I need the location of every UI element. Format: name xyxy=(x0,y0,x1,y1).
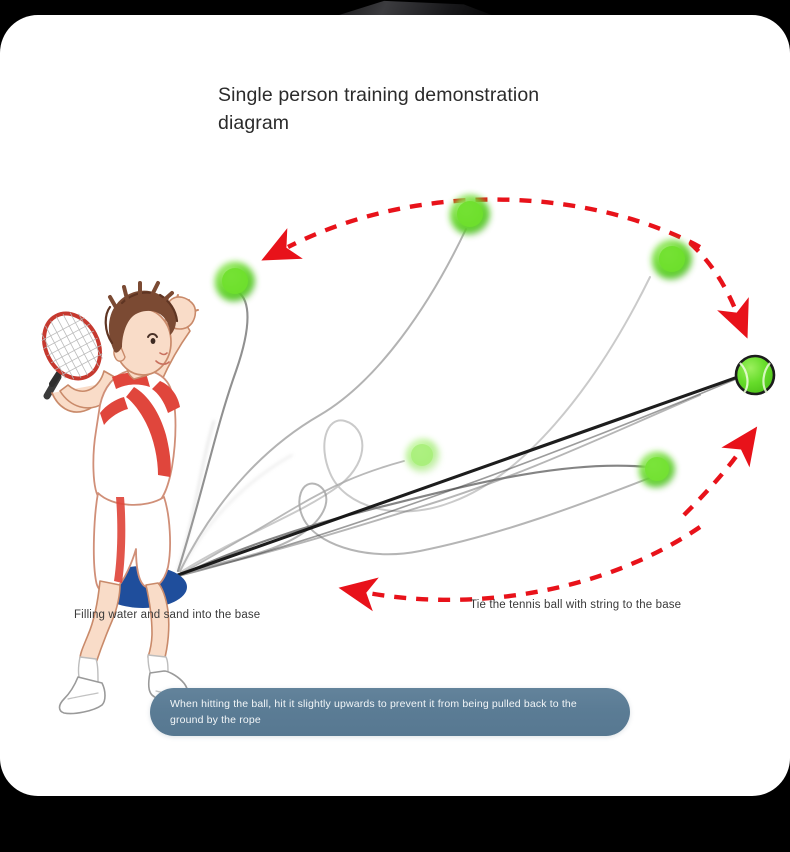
tennis-balls xyxy=(215,195,774,488)
ball-top-center xyxy=(450,195,490,235)
screenshot-stage: Single person training demonstration dia… xyxy=(0,0,790,852)
rope-strings xyxy=(178,229,738,576)
ball-right-solid xyxy=(736,356,774,394)
ball-top-right xyxy=(652,240,692,280)
arrow-right-down-path xyxy=(690,243,736,311)
arrow-left-bottom-path xyxy=(368,527,700,600)
caption-base-fill: Filling water and sand into the base xyxy=(74,609,260,621)
arrow-top-left-path xyxy=(288,200,700,247)
tip-banner: When hitting the ball, hit it slightly u… xyxy=(150,688,630,736)
arrow-right-up-path xyxy=(684,451,740,515)
ball-lower-right xyxy=(639,452,675,488)
training-diagram: Single person training demonstration dia… xyxy=(0,15,790,796)
ball-mid-faded xyxy=(406,439,440,473)
caption-tie-ball: Tie the tennis ball with string to the b… xyxy=(470,599,681,611)
tennis-player-illustration xyxy=(33,283,198,714)
ball-upper-left xyxy=(215,262,255,302)
diagram-card: Single person training demonstration dia… xyxy=(0,15,790,796)
page-title: Single person training demonstration dia… xyxy=(218,81,578,138)
tip-banner-text: When hitting the ball, hit it slightly u… xyxy=(170,697,610,729)
